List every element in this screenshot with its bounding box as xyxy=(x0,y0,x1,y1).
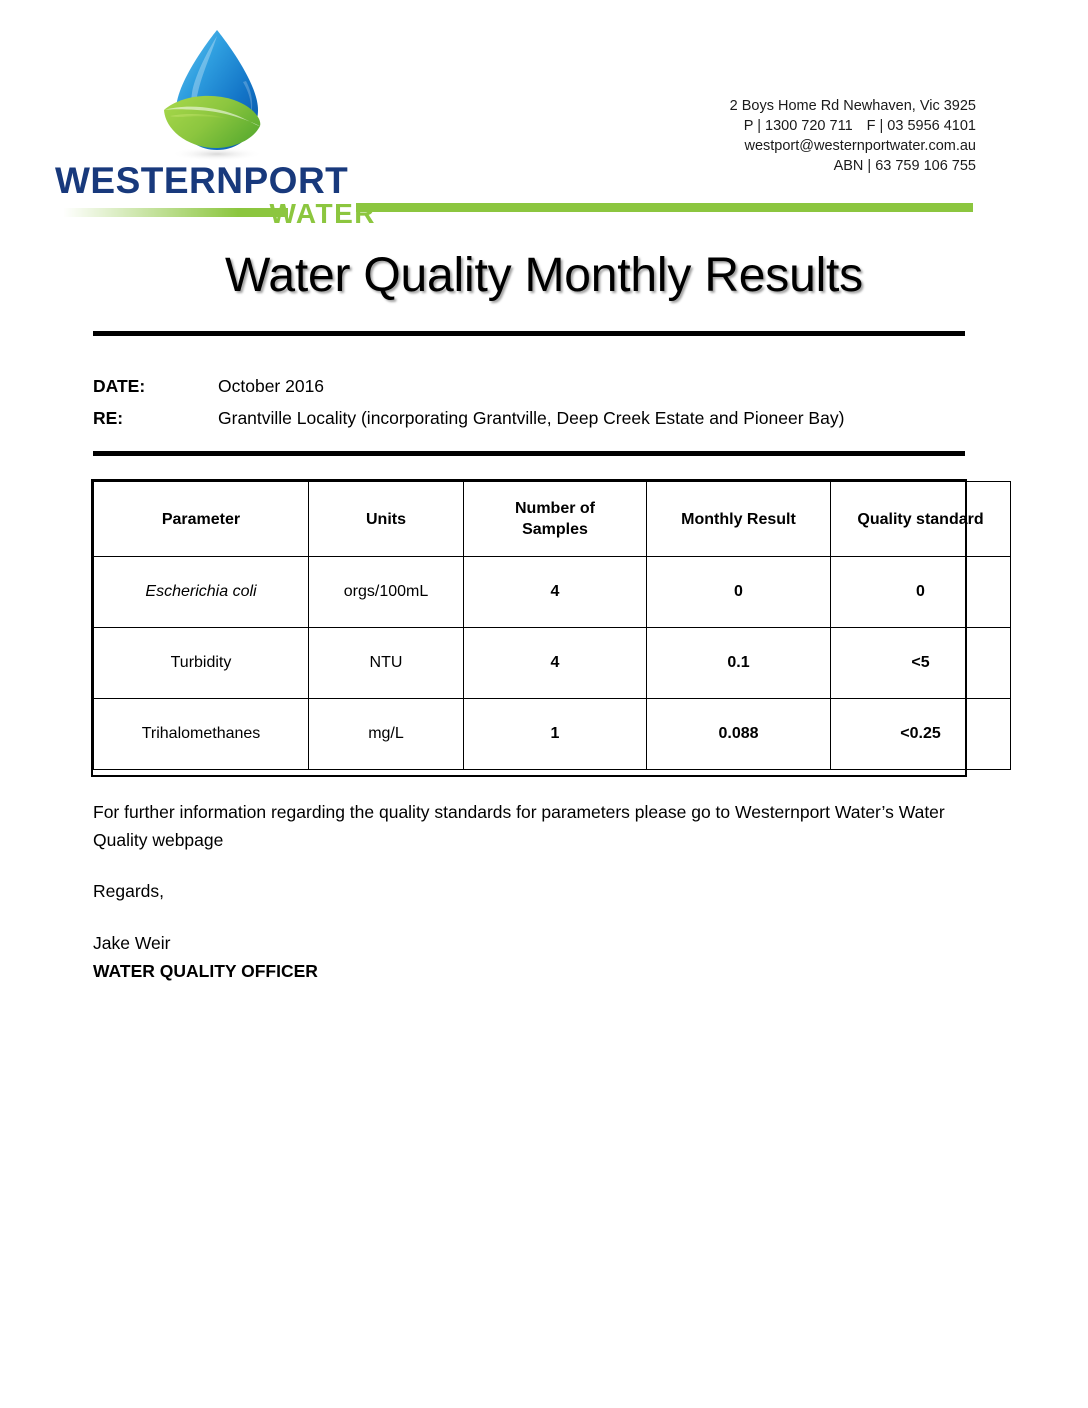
cell-result: 0.1 xyxy=(647,628,831,699)
meta-row-re: RE: Grantville Locality (incorporating G… xyxy=(93,402,973,434)
water-quality-results-table: Parameter Units Number ofSamples Monthly… xyxy=(93,481,1011,770)
company-logo: WESTERNPORT WATER™ xyxy=(55,22,385,222)
cell-standard: <5 xyxy=(831,628,1011,699)
logo-wordmark: WESTERNPORT WATER™ xyxy=(55,162,385,227)
cell-samples: 1 xyxy=(464,699,647,770)
col-header-monthly-result: Monthly Result xyxy=(647,482,831,557)
cell-standard: <0.25 xyxy=(831,699,1011,770)
table-row: Trihalomethanes mg/L 1 0.088 <0.25 xyxy=(94,699,1011,770)
cell-units: mg/L xyxy=(309,699,464,770)
further-information-note: For further information regarding the qu… xyxy=(93,798,953,854)
header-green-rule xyxy=(356,203,973,212)
signer-role: WATER QUALITY OFFICER xyxy=(93,957,318,985)
re-value: Grantville Locality (incorporating Grant… xyxy=(218,402,973,434)
cell-standard: 0 xyxy=(831,557,1011,628)
table-row: Escherichia coli orgs/100mL 4 0 0 xyxy=(94,557,1011,628)
phone-label: P | xyxy=(744,118,761,134)
table-head: Parameter Units Number ofSamples Monthly… xyxy=(94,482,1011,557)
document-meta: DATE: October 2016 RE: Grantville Locali… xyxy=(93,370,973,434)
col-header-samples-line1: Number of xyxy=(515,500,595,517)
signature-block: Jake Weir WATER QUALITY OFFICER xyxy=(93,929,318,985)
col-header-units: Units xyxy=(309,482,464,557)
meta-row-date: DATE: October 2016 xyxy=(93,370,973,402)
regards-line: Regards, xyxy=(93,877,164,905)
phone-number: 1300 720 711 xyxy=(765,118,853,134)
table-row: Turbidity NTU 4 0.1 <5 xyxy=(94,628,1011,699)
cell-parameter: Turbidity xyxy=(94,628,309,699)
cell-parameter: Escherichia coli xyxy=(94,557,309,628)
cell-parameter: Trihalomethanes xyxy=(94,699,309,770)
logo-gradient-bar xyxy=(63,208,288,217)
col-header-quality-standard: Quality standard xyxy=(831,482,1011,557)
abn-label: ABN | xyxy=(834,158,872,174)
contact-details: 2 Boys Home Rd Newhaven, Vic 3925 P | 13… xyxy=(730,96,976,176)
cell-samples: 4 xyxy=(464,628,647,699)
cell-units: NTU xyxy=(309,628,464,699)
contact-abn: ABN | 63 759 106 755 xyxy=(730,156,976,176)
page-title: Water Quality Monthly Results xyxy=(0,248,1088,303)
date-label: DATE: xyxy=(93,370,218,402)
col-header-parameter: Parameter xyxy=(94,482,309,557)
fax-number: 03 5956 4101 xyxy=(887,118,976,134)
divider-top xyxy=(93,331,965,336)
cell-result: 0.088 xyxy=(647,699,831,770)
contact-address: 2 Boys Home Rd Newhaven, Vic 3925 xyxy=(730,96,976,116)
divider-bottom xyxy=(93,451,965,456)
col-header-number-of-samples: Number ofSamples xyxy=(464,482,647,557)
cell-result: 0 xyxy=(647,557,831,628)
contact-email[interactable]: westport@westernportwater.com.au xyxy=(730,136,976,156)
abn-number: 63 759 106 755 xyxy=(875,158,976,174)
fax-label: F | xyxy=(867,118,884,134)
cell-samples: 4 xyxy=(464,557,647,628)
signer-name: Jake Weir xyxy=(93,929,318,957)
contact-phone-fax: P | 1300 720 711F | 03 5956 4101 xyxy=(730,116,976,136)
logo-wordmark-sub-row: WATER™ xyxy=(55,201,385,227)
date-value: October 2016 xyxy=(218,370,973,402)
cell-units: orgs/100mL xyxy=(309,557,464,628)
re-label: RE: xyxy=(93,402,218,434)
page-header: WESTERNPORT WATER™ 2 Boys Home Rd Newhav… xyxy=(0,0,1088,230)
water-droplet-leaf-icon xyxy=(150,22,285,172)
logo-wordmark-main: WESTERNPORT xyxy=(55,162,385,199)
col-header-samples-line2: Samples xyxy=(522,521,588,538)
table-header-row: Parameter Units Number ofSamples Monthly… xyxy=(94,482,1011,557)
table-body: Escherichia coli orgs/100mL 4 0 0 Turbid… xyxy=(94,557,1011,770)
